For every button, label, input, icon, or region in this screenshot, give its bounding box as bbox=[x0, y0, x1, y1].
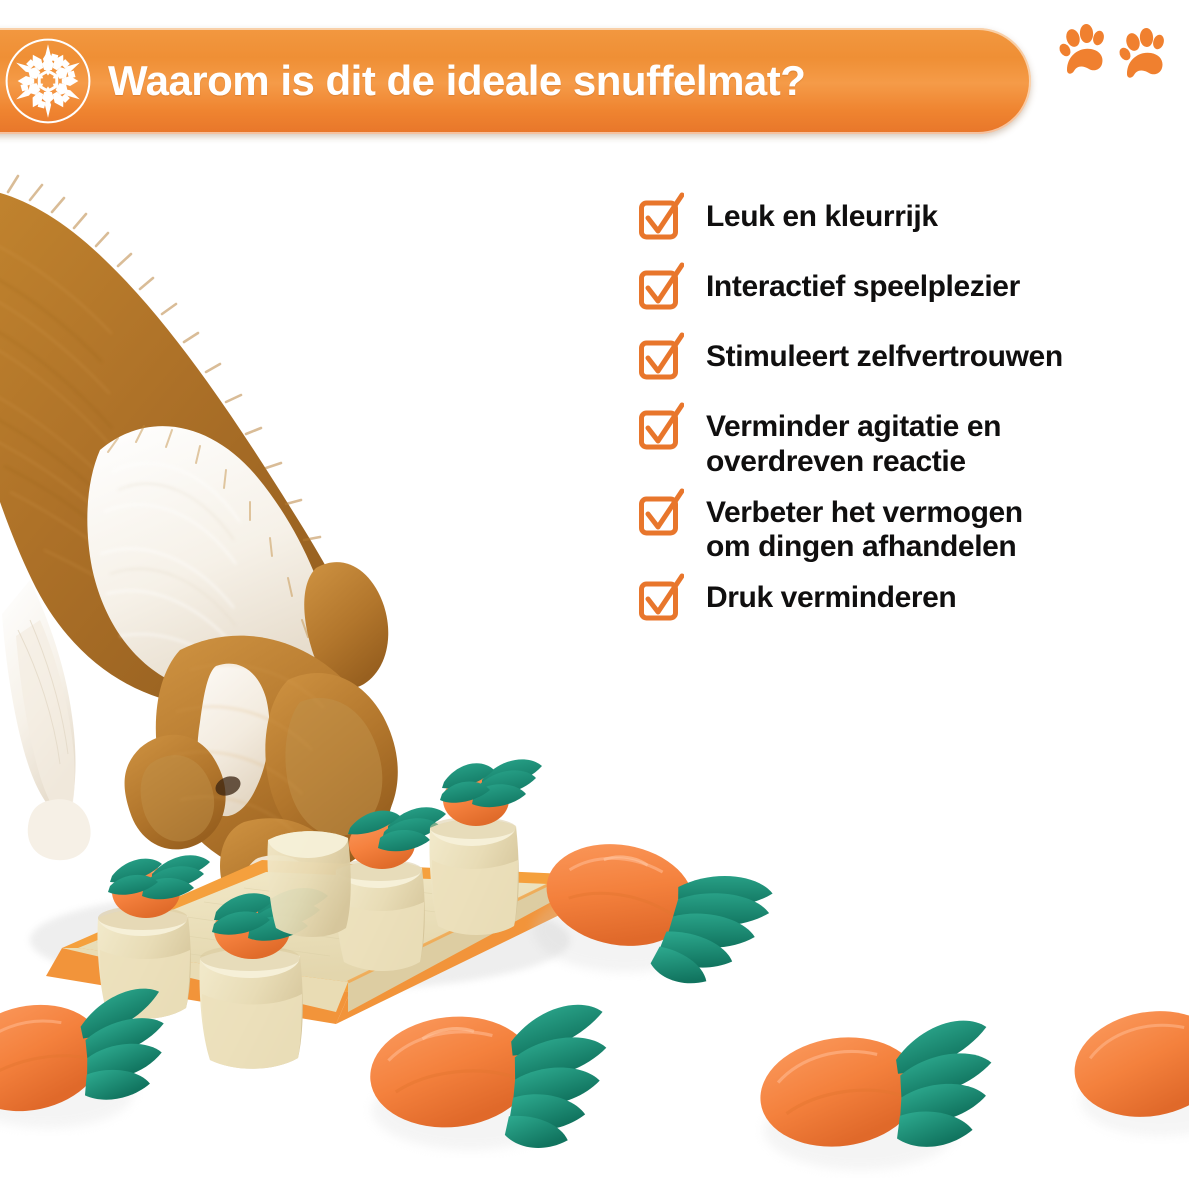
plush-carrot-icon bbox=[1066, 987, 1189, 1136]
checklist-item-label: Druk verminderen bbox=[706, 577, 956, 616]
plush-carrot-icon bbox=[0, 978, 179, 1130]
checklist-item: Leuk en kleurrijk bbox=[638, 196, 1189, 248]
plush-carrot-icon bbox=[365, 1001, 616, 1165]
checklist-item-label: Verminder agitatie en overdreven reactie bbox=[706, 406, 1001, 480]
plush-carrot-icon bbox=[533, 833, 776, 996]
header-banner: Waarom is dit de ideale snuffelmat? bbox=[0, 28, 1031, 134]
checklist-item: Druk verminderen bbox=[638, 577, 1189, 629]
benefits-checklist: Leuk en kleurrijk Interactief speelplezi… bbox=[638, 196, 1189, 647]
snowflake-ornament-icon bbox=[2, 35, 94, 127]
checkbox-checked-icon bbox=[638, 332, 684, 384]
plush-carrot-toys-group bbox=[0, 800, 1189, 1200]
checklist-item: Verminder agitatie en overdreven reactie bbox=[638, 406, 1189, 480]
checkbox-checked-icon bbox=[638, 488, 684, 540]
checklist-item-label: Stimuleert zelfvertrouwen bbox=[706, 336, 1063, 375]
checklist-item: Stimuleert zelfvertrouwen bbox=[638, 336, 1189, 388]
checkbox-checked-icon bbox=[638, 402, 684, 454]
checklist-item: Interactief speelplezier bbox=[638, 266, 1189, 318]
paw-print-icon bbox=[1055, 20, 1175, 80]
plush-carrot-icon bbox=[753, 1017, 1002, 1170]
checklist-item-label: Interactief speelplezier bbox=[706, 266, 1020, 305]
banner-title: Waarom is dit de ideale snuffelmat? bbox=[108, 57, 805, 105]
checklist-item-label: Leuk en kleurrijk bbox=[706, 196, 938, 235]
checkbox-checked-icon bbox=[638, 262, 684, 314]
checklist-item-label: Verbeter het vermogen om dingen afhandel… bbox=[706, 492, 1023, 566]
checkbox-checked-icon bbox=[638, 192, 684, 244]
checklist-item: Verbeter het vermogen om dingen afhandel… bbox=[638, 492, 1189, 566]
checkbox-checked-icon bbox=[638, 573, 684, 625]
